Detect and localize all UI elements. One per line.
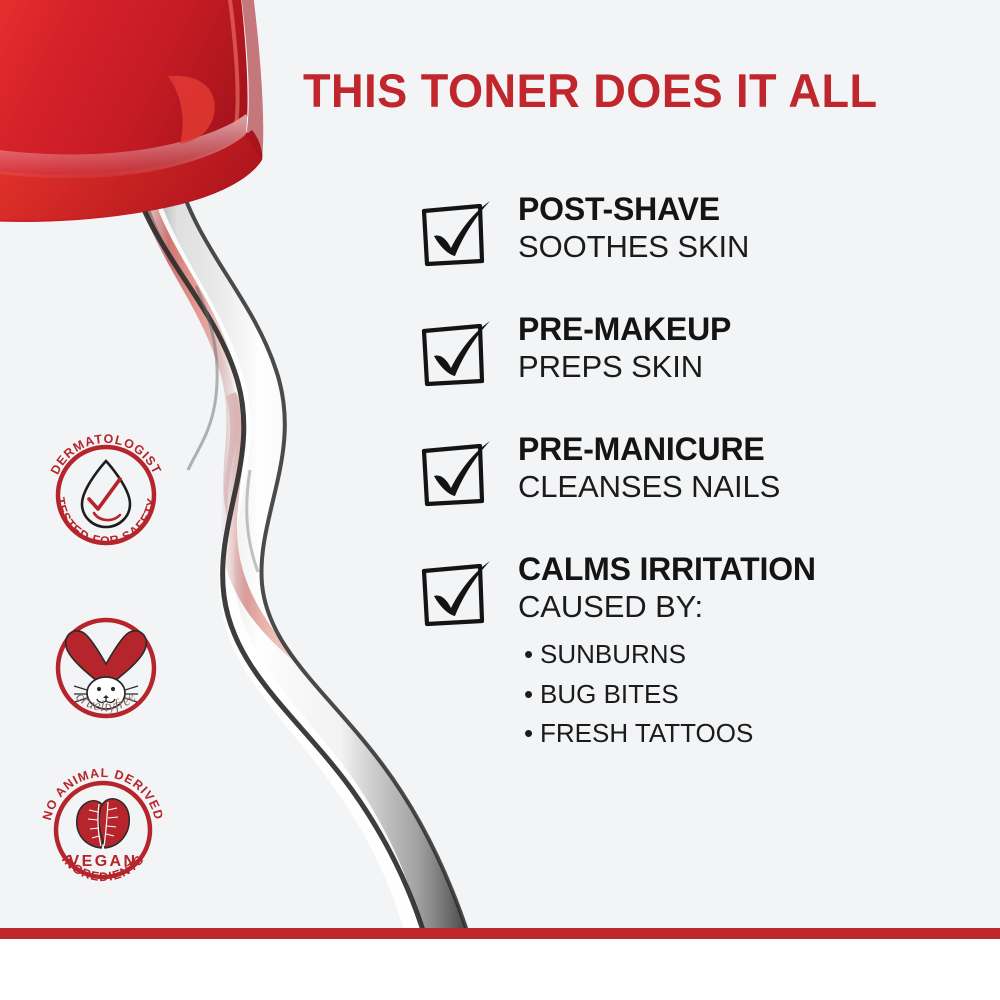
benefit-subtitle: SOOTHES SKIN <box>518 229 978 266</box>
checkbox-checked-icon <box>418 318 496 390</box>
benefit-title: PRE-MANICURE <box>518 432 978 467</box>
dermatologist-tested-badge: DERMATOLOGIST TESTED FOR SAFETY <box>36 425 176 565</box>
benefit-item: PRE-MANICURE CLEANSES NAILS <box>418 432 978 528</box>
checkbox-checked-icon <box>418 198 496 270</box>
list-item-label: BUG BITES <box>540 679 679 709</box>
benefits-list: POST-SHAVE SOOTHES SKIN PRE-MAKEUP PREPS… <box>418 192 978 778</box>
bullet-icon: • <box>524 675 540 715</box>
promo-image: THIS TONER DOES IT ALL POST-SHAVE SOOTHE… <box>0 0 1000 1000</box>
list-item-label: FRESH TATTOOS <box>540 718 753 748</box>
benefit-item: CALMS IRRITATION CAUSED BY: •SUNBURNS •B… <box>418 552 978 754</box>
benefit-title: POST-SHAVE <box>518 192 978 227</box>
bottom-red-bar <box>0 928 1000 939</box>
list-item-label: SUNBURNS <box>540 639 686 669</box>
list-item: •FRESH TATTOOS <box>524 714 978 754</box>
badge-bottom-arc-label: TESTED FOR SAFETY <box>53 496 159 548</box>
checkbox-checked-icon <box>418 438 496 510</box>
vegan-ingredients-badge: VEGAN NO ANIMAL DERIVED INGREDIENTS <box>33 760 173 900</box>
benefit-title: PRE-MAKEUP <box>518 312 978 347</box>
benefit-subtitle: CLEANSES NAILS <box>518 469 978 506</box>
page-title: THIS TONER DOES IT ALL <box>303 63 878 118</box>
checkbox-checked-icon <box>418 558 496 630</box>
list-item: •BUG BITES <box>524 675 978 715</box>
cause-list: •SUNBURNS •BUG BITES •FRESH TATTOOS <box>524 635 978 754</box>
benefit-item: POST-SHAVE SOOTHES SKIN <box>418 192 978 288</box>
benefit-item: PRE-MAKEUP PREPS SKIN <box>418 312 978 408</box>
list-item: •SUNBURNS <box>524 635 978 675</box>
benefit-title: CALMS IRRITATION <box>518 552 978 587</box>
footer-area <box>0 939 1000 1000</box>
bullet-icon: • <box>524 635 540 675</box>
cruelty-free-badge: crueltyfree <box>36 598 176 738</box>
bullet-icon: • <box>524 714 540 754</box>
benefit-subtitle: PREPS SKIN <box>518 349 978 386</box>
benefit-subtitle: CAUSED BY: <box>518 589 978 626</box>
